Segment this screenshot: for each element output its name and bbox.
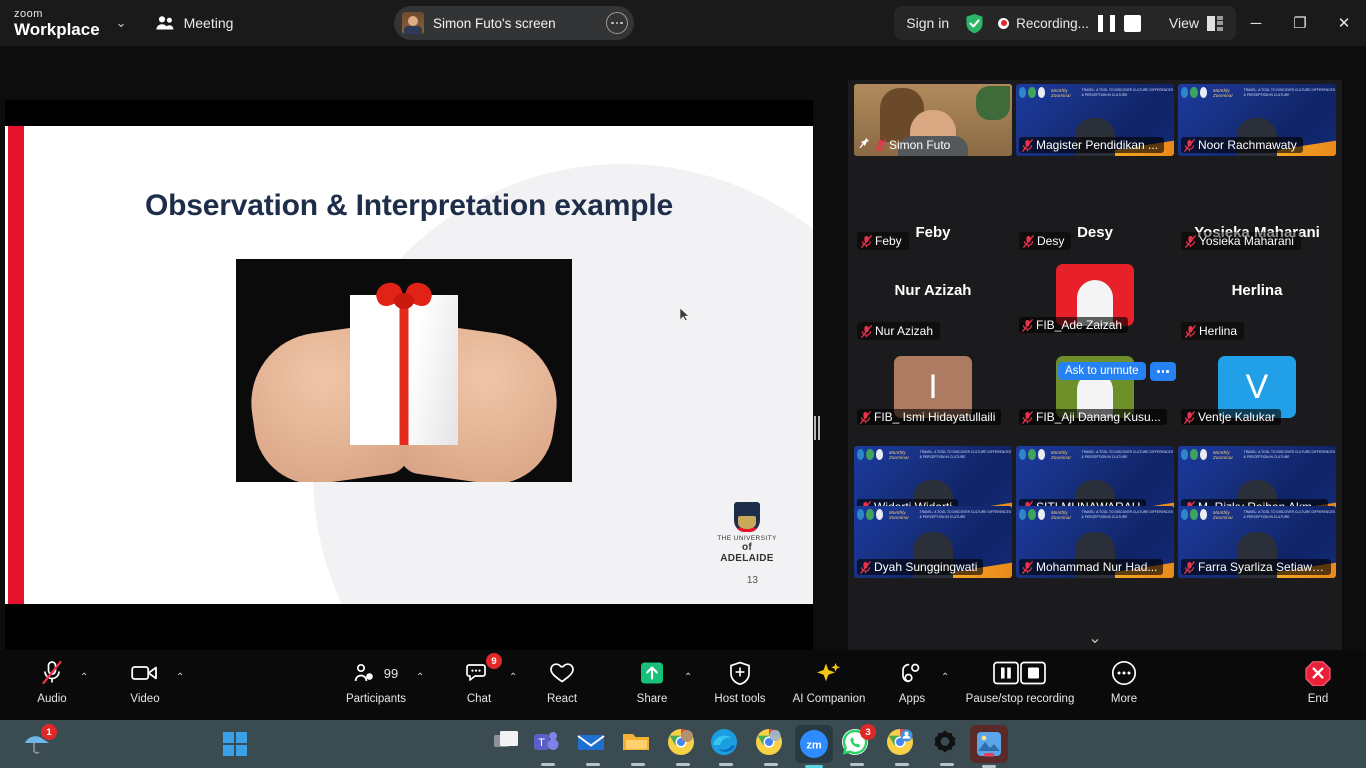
taskbar-app-chrome-3[interactable] <box>885 727 919 761</box>
recording-status: Recording... <box>998 16 1089 31</box>
zoom-meeting-window: zoom Workplace ⌄ Meeting Simon Futo's sc… <box>0 0 1366 768</box>
shared-screen-frame[interactable]: Observation & Interpretation example THE… <box>5 100 813 650</box>
participant-tile[interactable]: I FIB_ Ismi Hidayatullaili <box>854 356 1012 428</box>
participant-tile[interactable]: V Ventje Kalukar <box>1178 356 1336 428</box>
more-ellipsis-icon <box>1111 658 1137 688</box>
banner-title: Monthly Zoominar <box>1051 450 1077 460</box>
participant-nametag: Herlina <box>1181 322 1244 340</box>
apps-options-caret[interactable]: ⌃ <box>941 672 949 683</box>
chat-options-caret[interactable]: ⌃ <box>509 672 517 683</box>
participant-tile[interactable]: Herlina Herlina <box>1178 264 1336 336</box>
mouse-cursor <box>680 308 689 321</box>
participant-nametag: Feby <box>857 232 909 250</box>
chevron-down-icon[interactable]: ⌄ <box>116 15 127 31</box>
microphone-muted-icon <box>1022 139 1033 152</box>
crest-icon <box>734 502 760 532</box>
end-call-icon <box>1305 658 1331 688</box>
shared-screen-pill[interactable]: Simon Futo's screen <box>394 6 634 40</box>
banner-subtitle: TRAVEL: A TOOL TO DISCOVER CULTURE DIFFE… <box>1082 88 1174 97</box>
svg-text:T: T <box>538 737 545 749</box>
video-label: Video <box>130 693 159 705</box>
share-options-caret[interactable]: ⌃ <box>684 672 692 683</box>
gift-box <box>350 295 458 445</box>
slide-page-number: 13 <box>747 575 758 586</box>
participant-tile[interactable]: Yosieka Maharani Yosieka Maharani <box>1178 174 1336 246</box>
pause-stop-recording-label: Pause/stop recording <box>966 693 1075 705</box>
participant-name-label: FIB_Aji Danang Kusu... <box>1036 410 1161 424</box>
gift-bow <box>376 281 432 315</box>
shared-screen-stage: Observation & Interpretation example THE… <box>0 46 818 646</box>
slide-title: Observation & Interpretation example <box>5 189 813 223</box>
microphone-muted-icon <box>1184 411 1195 424</box>
brand-workplace: Workplace <box>14 21 100 38</box>
banner-subtitle: TRAVEL: A TOOL TO DISCOVER CULTURE DIFFE… <box>920 510 1012 519</box>
react-label: React <box>547 693 577 705</box>
panel-drag-handle[interactable] <box>814 416 820 440</box>
chat-unread-badge: 9 <box>486 653 502 669</box>
participant-tile[interactable]: Desy Desy <box>1016 174 1174 246</box>
apps-button[interactable]: Apps <box>874 658 950 705</box>
microphone-muted-icon <box>1185 235 1196 248</box>
recording-label: Recording... <box>1016 16 1089 31</box>
security-shield-icon[interactable] <box>965 13 984 34</box>
university-logo: THE UNIVERSITY of ADELAIDE <box>714 502 780 564</box>
virtual-background-banner: Monthly Zoominar TRAVEL: A TOOL TO DISCO… <box>1178 84 1336 101</box>
apps-icon <box>899 658 925 688</box>
participant-nametag: FIB_Aji Danang Kusu... <box>1019 409 1167 425</box>
banner-subtitle: TRAVEL: A TOOL TO DISCOVER CULTURE DIFFE… <box>1082 510 1174 519</box>
participant-name-label: Nur Azizah <box>875 324 933 338</box>
pin-icon <box>859 137 870 150</box>
people-icon <box>155 15 175 31</box>
participant-name-label: Ventje Kalukar <box>1198 410 1275 424</box>
sign-in-button[interactable]: Sign in <box>906 15 949 31</box>
view-label: View <box>1169 15 1199 31</box>
participant-tile[interactable]: Monthly Zoominar TRAVEL: A TOOL TO DISCO… <box>1016 84 1174 156</box>
university-line-1: THE UNIVERSITY <box>714 535 780 542</box>
audio-button[interactable]: Audio <box>14 658 90 705</box>
react-button[interactable]: React <box>524 658 600 705</box>
virtual-background-banner: Monthly Zoominar TRAVEL: A TOOL TO DISCO… <box>1016 84 1174 101</box>
weather-widget[interactable]: 1 <box>22 727 56 761</box>
microphone-muted-icon <box>860 561 871 574</box>
participant-name-label: Farra Syarliza Setiawan <box>1198 560 1325 574</box>
microphone-muted-icon <box>1022 411 1033 424</box>
banner-title: Monthly Zoominar <box>1051 510 1077 520</box>
participant-name-label: Feby <box>875 234 902 248</box>
taskbar-app-chrome-2[interactable] <box>754 727 788 761</box>
taskbar-app-mail[interactable] <box>576 727 610 761</box>
microphone-muted-icon <box>861 235 872 248</box>
virtual-background-banner: Monthly Zoominar TRAVEL: A TOOL TO DISCO… <box>1016 446 1174 463</box>
meeting-toolbar: Audio ⌃ Video ⌃ 99 Participants <box>0 650 1366 720</box>
gift-ribbon-vertical <box>400 295 409 445</box>
pause-stop-recording-button[interactable]: Pause/stop recording <box>958 658 1082 705</box>
chat-label: Chat <box>467 693 491 705</box>
banner-title: Monthly Zoominar <box>1213 88 1239 98</box>
taskbar-app-edge[interactable] <box>709 727 743 761</box>
chat-button[interactable]: 9 Chat <box>441 658 517 705</box>
audio-options-caret[interactable]: ⌃ <box>80 672 88 683</box>
participant-name-label: Noor Rachmawaty <box>1198 138 1297 152</box>
participant-nametag: FIB_ Ismi Hidayatullaili <box>857 409 1001 425</box>
participants-label: Participants <box>346 693 406 705</box>
participant-nametag: Noor Rachmawaty <box>1181 137 1303 153</box>
microphone-muted-icon <box>875 139 886 152</box>
banner-subtitle: TRAVEL: A TOOL TO DISCOVER CULTURE DIFFE… <box>1244 88 1336 97</box>
more-options-icon[interactable] <box>606 12 628 34</box>
shared-screen-label: Simon Futo's screen <box>433 16 606 31</box>
taskbar-app-file-explorer[interactable] <box>621 727 655 761</box>
microphone-muted-icon <box>1184 139 1195 152</box>
participant-more-options-button[interactable] <box>1150 362 1176 381</box>
scroll-down-chevron-icon[interactable]: ⌄ <box>1088 628 1101 648</box>
end-label: End <box>1308 693 1328 705</box>
participant-nametag: Ventje Kalukar <box>1181 409 1281 425</box>
participant-nametag: Mohammad Nur Had... <box>1019 559 1163 575</box>
microphone-muted-icon <box>1185 325 1196 338</box>
participants-count: 99 <box>384 666 398 681</box>
microphone-muted-icon <box>40 658 64 688</box>
participant-tile[interactable]: Monthly Zoominar TRAVEL: A TOOL TO DISCO… <box>854 506 1012 578</box>
video-options-caret[interactable]: ⌃ <box>176 672 184 683</box>
meeting-tab[interactable]: Meeting <box>155 15 234 31</box>
participant-nametag: Nur Azizah <box>857 322 940 340</box>
windows-taskbar: 1 Search <box>0 720 1366 768</box>
banner-title: Monthly Zoominar <box>889 450 915 460</box>
banner-subtitle: TRAVEL: A TOOL TO DISCOVER CULTURE DIFFE… <box>1244 450 1336 459</box>
participants-options-caret[interactable]: ⌃ <box>416 672 424 683</box>
taskbar-app-teams[interactable]: T <box>531 727 565 761</box>
participant-name-label: Magister Pendidikan ... <box>1036 138 1158 152</box>
taskbar-app-photos[interactable] <box>970 725 1008 763</box>
banner-title: Monthly Zoominar <box>1051 88 1077 98</box>
svg-text:zm: zm <box>806 740 822 752</box>
pause-recording-button[interactable] <box>1098 15 1115 32</box>
share-screen-icon <box>640 658 664 688</box>
participant-nametag: Yosieka Maharani <box>1181 232 1301 250</box>
participant-tile[interactable]: Monthly Zoominar TRAVEL: A TOOL TO DISCO… <box>1178 506 1336 578</box>
heart-icon <box>549 658 575 688</box>
microphone-muted-icon <box>1184 561 1195 574</box>
task-view-button[interactable] <box>492 727 526 761</box>
participant-tile[interactable]: Nur Azizah Nur Azizah <box>854 264 1012 336</box>
banner-subtitle: TRAVEL: A TOOL TO DISCOVER CULTURE DIFFE… <box>920 450 1012 459</box>
window-controls: ─ ❐ ✕ <box>1234 0 1366 46</box>
participant-tile[interactable]: FIB_Ade Zaizah <box>1016 264 1174 336</box>
microphone-muted-icon <box>1022 319 1033 332</box>
virtual-background-banner: Monthly Zoominar TRAVEL: A TOOL TO DISCO… <box>854 506 1012 523</box>
participant-display-name: Nur Azizah <box>854 282 1012 299</box>
taskbar-app-chrome-profile[interactable] <box>666 727 700 761</box>
slide-photo-gift-in-hands <box>236 259 572 482</box>
pause-stop-recording-icon <box>993 658 1047 688</box>
participant-name-label: Desy <box>1037 234 1064 248</box>
presenter-thumbnail <box>402 12 424 34</box>
banner-subtitle: TRAVEL: A TOOL TO DISCOVER CULTURE DIFFE… <box>1082 450 1174 459</box>
virtual-background-banner: Monthly Zoominar TRAVEL: A TOOL TO DISCO… <box>854 446 1012 463</box>
microphone-muted-icon <box>1023 235 1034 248</box>
shield-host-icon <box>729 658 751 688</box>
restore-button[interactable]: ❐ <box>1278 0 1322 46</box>
view-button[interactable]: View <box>1169 15 1224 31</box>
participants-button[interactable]: 99 Participants <box>330 658 422 705</box>
share-label: Share <box>637 693 668 705</box>
ai-sparkle-icon <box>816 658 842 688</box>
more-button[interactable]: More <box>1086 658 1162 705</box>
banner-subtitle: TRAVEL: A TOOL TO DISCOVER CULTURE DIFFE… <box>1244 510 1336 519</box>
chat-icon: 9 <box>466 658 492 688</box>
view-layout-icon <box>1207 16 1224 31</box>
participant-tile[interactable]: Feby Feby <box>854 174 1012 246</box>
audio-label: Audio <box>37 693 66 705</box>
taskbar-app-settings[interactable] <box>930 727 964 761</box>
microphone-muted-icon <box>860 411 871 424</box>
virtual-background-banner: Monthly Zoominar TRAVEL: A TOOL TO DISCO… <box>1178 446 1336 463</box>
microphone-muted-icon <box>861 325 872 338</box>
participant-name-label: Yosieka Maharani <box>1199 234 1294 248</box>
participant-nametag: Simon Futo <box>872 137 956 153</box>
end-meeting-button[interactable]: End <box>1280 658 1356 705</box>
video-button[interactable]: Video <box>107 658 183 705</box>
ask-to-unmute-button[interactable]: Ask to unmute <box>1058 362 1146 380</box>
host-tools-button[interactable]: Host tools <box>702 658 778 705</box>
record-dot-icon <box>998 18 1009 29</box>
title-bar: zoom Workplace ⌄ Meeting Simon Futo's sc… <box>0 0 1366 46</box>
banner-title: Monthly Zoominar <box>1213 510 1239 520</box>
participant-name-label: Dyah Sunggingwati <box>874 560 977 574</box>
camera-icon <box>131 658 159 688</box>
participant-nametag: Dyah Sunggingwati <box>857 559 983 575</box>
participant-name-label: Mohammad Nur Had... <box>1036 560 1157 574</box>
participant-nametag: FIB_Ade Zaizah <box>1019 317 1128 333</box>
participant-nametag: Farra Syarliza Setiawan <box>1181 559 1331 575</box>
start-button[interactable] <box>222 731 248 757</box>
ai-companion-button[interactable]: AI Companion <box>780 658 878 705</box>
participant-name-label: FIB_Ade Zaizah <box>1036 318 1122 332</box>
whatsapp-badge: 3 <box>860 724 876 740</box>
share-button[interactable]: Share <box>614 658 690 705</box>
microphone-muted-icon <box>1022 561 1033 574</box>
brand-zoom: zoom <box>14 9 100 20</box>
participant-nametag: Magister Pendidikan ... <box>1019 137 1164 153</box>
taskbar-app-whatsapp[interactable]: 3 <box>840 727 874 761</box>
participant-name-label: Herlina <box>1199 324 1237 338</box>
participants-icon: 99 <box>354 658 398 688</box>
host-tools-label: Host tools <box>714 693 765 705</box>
more-label: More <box>1111 693 1137 705</box>
taskbar-app-zoom[interactable]: zm <box>795 725 833 763</box>
virtual-background-banner: Monthly Zoominar TRAVEL: A TOOL TO DISCO… <box>1178 506 1336 523</box>
participant-tile[interactable]: Simon Futo <box>854 84 1012 156</box>
participant-tile[interactable]: Monthly Zoominar TRAVEL: A TOOL TO DISCO… <box>1178 84 1336 156</box>
close-button[interactable]: ✕ <box>1322 0 1366 46</box>
participant-name-label: Simon Futo <box>889 138 950 152</box>
banner-title: Monthly Zoominar <box>1213 450 1239 460</box>
weather-badge: 1 <box>41 724 57 740</box>
participant-display-name: Herlina <box>1178 282 1336 299</box>
zoom-workplace-logo: zoom Workplace <box>14 9 100 38</box>
meeting-label: Meeting <box>184 15 234 31</box>
ai-companion-label: AI Companion <box>793 693 866 705</box>
banner-title: Monthly Zoominar <box>889 510 915 520</box>
participant-nametag: Desy <box>1019 232 1071 250</box>
participant-name-label: FIB_ Ismi Hidayatullaili <box>874 410 995 424</box>
titlebar-right-group: Sign in Recording... View <box>894 6 1236 40</box>
presentation-slide: Observation & Interpretation example THE… <box>5 126 813 604</box>
participant-panel: Simon Futo Monthly Zoominar TRAVEL: A TO… <box>848 80 1342 650</box>
minimize-button[interactable]: ─ <box>1234 0 1278 46</box>
apps-label: Apps <box>899 693 925 705</box>
participant-tile[interactable]: Monthly Zoominar TRAVEL: A TOOL TO DISCO… <box>1016 506 1174 578</box>
stop-recording-button[interactable] <box>1124 15 1141 32</box>
university-line-2: of ADELAIDE <box>714 542 780 564</box>
virtual-background-banner: Monthly Zoominar TRAVEL: A TOOL TO DISCO… <box>1016 506 1174 523</box>
